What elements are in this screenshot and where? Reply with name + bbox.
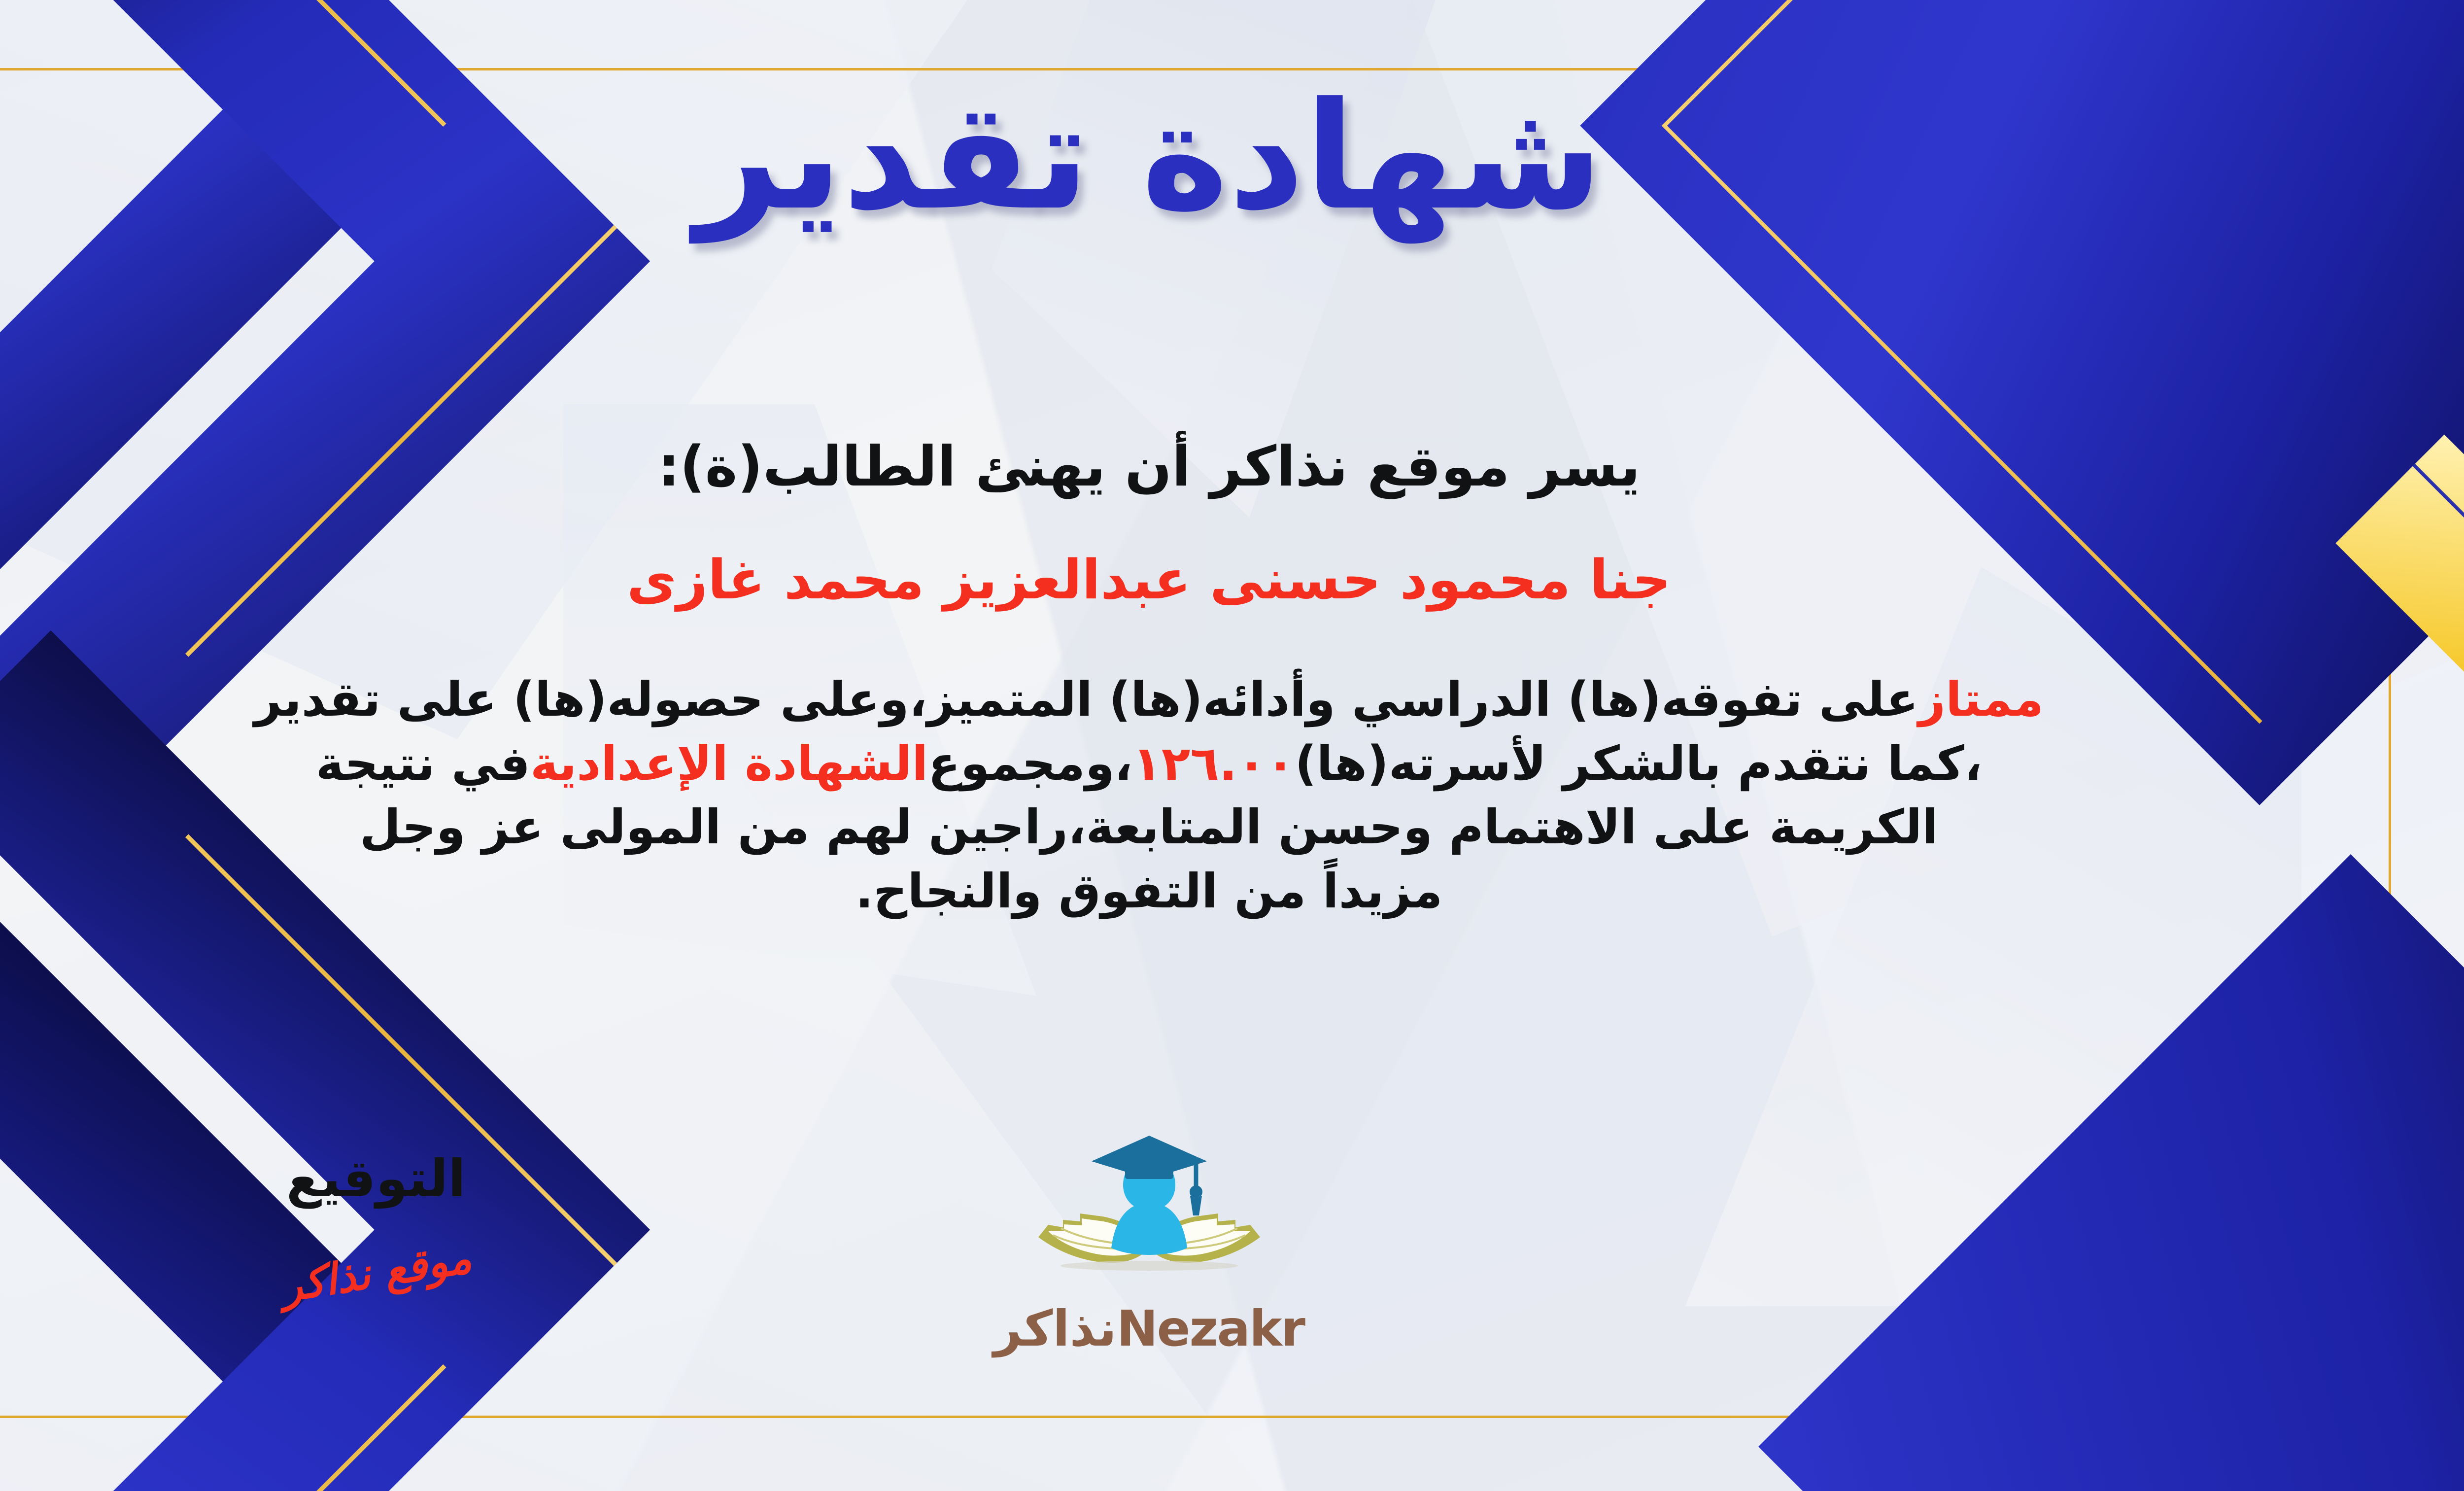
body-line-4: مزيداً من التفوق والنجاح. [0, 860, 2375, 924]
body-line-3: الكريمة على الاهتمام وحسن المتابعة،راجين… [0, 796, 2375, 860]
body-line-3-text: الكريمة على الاهتمام وحسن المتابعة،راجين… [360, 796, 1938, 860]
logo-name-ar: نذاكر [993, 1300, 1117, 1357]
student-name: جنا محمود حسنى عبدالعزيز محمد غازى [0, 547, 2464, 612]
signature-block: التوقيع موقع نذاكر [208, 1148, 544, 1297]
total-score-value: ١٢٦.٠٠ [1132, 732, 1295, 796]
body-line-4-text: مزيداً من التفوق والنجاح. [856, 860, 1443, 924]
body-line-2: ،كما نتقدم بالشكر لأسرته(ها) ١٢٦.٠٠ ،ومج… [0, 732, 2375, 796]
logo-name-en: Nezakr [1117, 1300, 1304, 1357]
grade-value: ممتاز [1918, 668, 2044, 732]
graduate-book-icon [1033, 1134, 1265, 1301]
certificate-canvas: شهادة تقدير يسر موقع نذاكر أن يهنئ الطال… [0, 0, 2464, 1491]
body-line-2-head: في نتيجة [316, 732, 530, 796]
body-line-1-text: على تفوقه(ها) الدراسي وأدائه(ها) المتميز… [254, 668, 1918, 732]
signature-mark: موقع نذاكر [277, 1233, 475, 1312]
logo-wordmark: Nezakrنذاكر [927, 1304, 1371, 1353]
certificate-body: ممتاز على تفوقه(ها) الدراسي وأدائه(ها) ا… [0, 668, 2375, 923]
body-line-1: ممتاز على تفوقه(ها) الدراسي وأدائه(ها) ا… [0, 668, 2375, 732]
body-line-2-tail: ،كما نتقدم بالشكر لأسرته(ها) [1295, 732, 1983, 796]
signature-label: التوقيع [208, 1148, 544, 1209]
site-logo: Nezakrنذاكر [927, 1134, 1371, 1353]
greeting-line: يسر موقع نذاكر أن يهنئ الطالب(ة): [0, 434, 2464, 500]
certificate-title: شهادة تقدير [0, 64, 2464, 249]
body-line-2-total-label: ،ومجموع [928, 732, 1132, 796]
exam-name-value: الشهادة الإعدادية [530, 732, 928, 796]
